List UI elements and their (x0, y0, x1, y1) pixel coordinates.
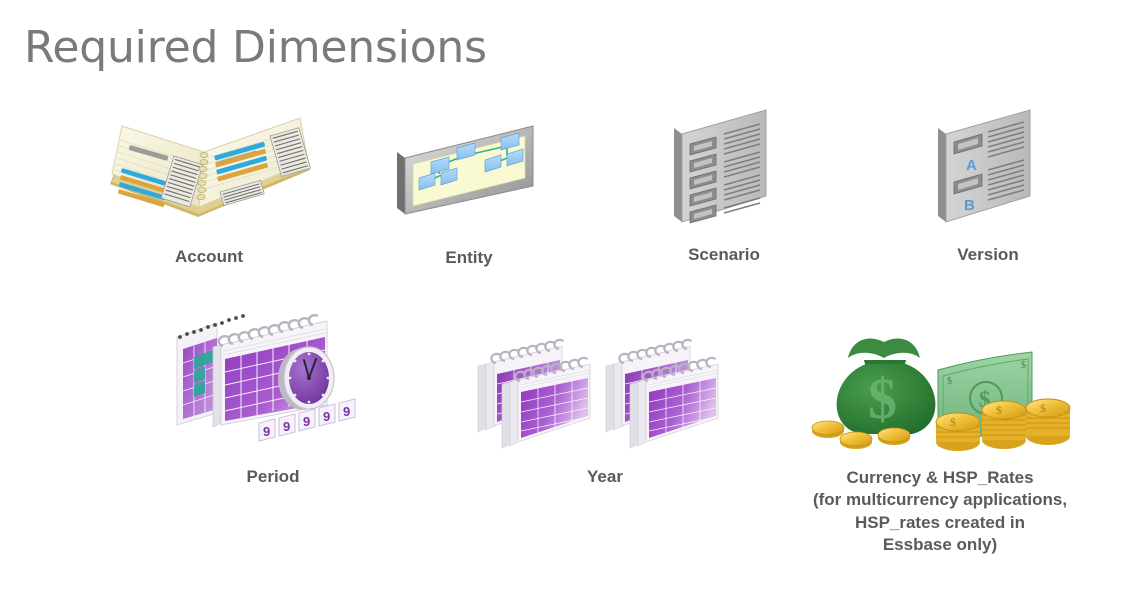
dimension-label-period: Period (163, 466, 383, 488)
period-digit-3: 9 (323, 409, 330, 424)
page-title: Required Dimensions (24, 24, 487, 72)
svg-text:$: $ (947, 376, 952, 387)
dimension-item-entity[interactable]: Entity (379, 118, 559, 269)
svg-text:$: $ (996, 403, 1002, 417)
dimension-label-scenario: Scenario (644, 244, 804, 266)
period-digit-0: 9 (263, 424, 270, 439)
year-calendars-icon (470, 330, 740, 450)
entity-org-chart-icon (379, 118, 559, 233)
version-marker-b: B (964, 197, 975, 214)
scenario-document-icon (644, 100, 804, 230)
account-ledger-icon (104, 112, 314, 232)
period-calendar-clock-icon: 9 9 9 9 9 (163, 305, 383, 450)
period-digit-2: 9 (303, 414, 310, 429)
version-document-icon: A B (908, 100, 1068, 230)
svg-text:$: $ (1040, 401, 1046, 415)
dimension-item-year[interactable]: Year (470, 330, 740, 488)
dimension-item-version[interactable]: A B Version (908, 100, 1068, 266)
dimension-item-account[interactable]: Account (104, 112, 314, 268)
dimension-label-account: Account (104, 246, 314, 268)
dimension-label-year: Year (470, 466, 740, 488)
svg-text:$: $ (1021, 360, 1026, 371)
dimension-label-entity: Entity (379, 247, 559, 269)
currency-money-icon: $ $ $$ $$ (790, 330, 1090, 455)
period-digit-4: 9 (343, 404, 350, 419)
svg-text:$: $ (868, 366, 897, 431)
svg-text:$: $ (950, 415, 956, 429)
dimension-label-version: Version (908, 244, 1068, 266)
slide-canvas: Required Dimensions (0, 0, 1144, 595)
dimension-item-currency[interactable]: $ $ $$ $$ (790, 330, 1090, 557)
dimension-item-period[interactable]: 9 9 9 9 9 (163, 305, 383, 488)
version-marker-a: A (966, 157, 977, 174)
dimension-label-currency: Currency & HSP_Rates (for multicurrency … (790, 467, 1090, 557)
dimension-item-scenario[interactable]: Scenario (644, 100, 804, 266)
period-digit-1: 9 (283, 419, 290, 434)
